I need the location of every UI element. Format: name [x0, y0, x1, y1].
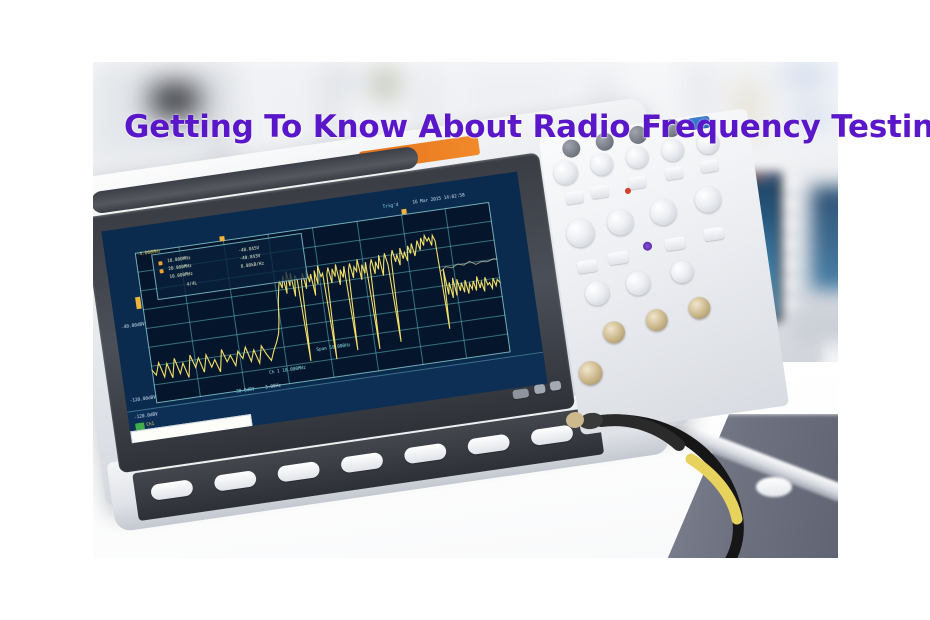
page-canvas: 10.000MHz -48.845V 20.000MHz -40.843V 10… — [0, 0, 930, 620]
page-title: Getting To Know About Radio Frequency Te… — [124, 108, 814, 146]
horizontal-scale-knob[interactable] — [565, 217, 597, 249]
channel-button-1[interactable] — [565, 190, 585, 204]
marker-delta-value: 8.00kB/Hz — [240, 261, 264, 269]
multipurpose-knob[interactable] — [649, 197, 678, 226]
marker-row-delta: 10.000MHz 8.00kB/Hz — [169, 271, 193, 279]
channel-button-4[interactable] — [664, 166, 684, 180]
marker-row-1: 10.000MHz -48.845V — [167, 255, 191, 263]
front-panel-controls[interactable] — [538, 108, 789, 435]
lcd-screen[interactable]: 10.000MHz -48.845V 20.000MHz -40.843V 10… — [101, 172, 547, 444]
marker-footer: 4/4L — [186, 280, 197, 286]
screen-timestamp: 16 Mar 2015 14:02:58 — [412, 193, 465, 205]
horizontal-position-knob[interactable] — [606, 208, 635, 237]
marker-1-level: -48.845V — [238, 245, 259, 253]
bnc-connector-ch1[interactable] — [601, 320, 626, 345]
axis-label-bottom-left: -120.00dBV — [130, 395, 157, 404]
trigger-indicator — [401, 209, 407, 215]
menu-button-4[interactable] — [703, 227, 725, 242]
marker-2-level: -40.843V — [239, 253, 260, 261]
menu-button-2[interactable] — [608, 251, 630, 266]
math-button[interactable] — [699, 159, 719, 173]
axis-label-mid-left: -40.00dBV — [121, 322, 145, 330]
utility-knob-2[interactable] — [625, 270, 652, 297]
bnc-connector-ch4[interactable] — [577, 360, 604, 387]
marker-delta-frequency: 10.000MHz — [169, 271, 193, 279]
marker-2-frequency: 20.000MHz — [168, 263, 192, 271]
channel-button-2[interactable] — [590, 185, 610, 199]
bnc-connector-ch3[interactable] — [687, 295, 712, 320]
trigger-label: Trig'd — [382, 203, 398, 210]
marker-1-frequency: 10.000MHz — [167, 255, 191, 263]
aux-port-2[interactable] — [549, 381, 561, 391]
marker-row-2: 20.000MHz -40.843V — [168, 263, 192, 271]
menu-button-3[interactable] — [664, 236, 686, 251]
position-knob-2[interactable] — [589, 152, 614, 177]
background-oscilloscope-3 — [793, 162, 838, 342]
marker-indicator-top — [219, 236, 225, 242]
utility-knob-1[interactable] — [584, 280, 611, 307]
status-led — [642, 241, 652, 251]
utility-knob-3[interactable] — [670, 260, 695, 285]
trigger-knob[interactable] — [693, 185, 722, 214]
position-knob-1[interactable] — [552, 159, 579, 186]
record-led — [625, 188, 632, 195]
aux-port-1[interactable] — [534, 384, 546, 394]
position-knob-3[interactable] — [625, 145, 650, 170]
coaxial-cable — [513, 407, 833, 558]
bnc-connector-ch2[interactable] — [644, 308, 669, 333]
menu-button-1[interactable] — [577, 259, 599, 274]
